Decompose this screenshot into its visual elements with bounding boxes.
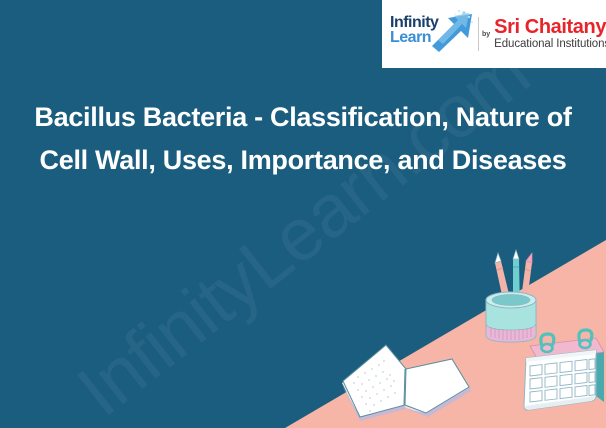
promo-banner: InfinityLearn.com Infinity Learn by Sri … — [0, 0, 606, 428]
desk-calendar-icon — [518, 330, 606, 422]
sri-chaitanya-logo: Sri Chaitanya Educational Institutions — [494, 17, 606, 51]
open-book-icon — [340, 331, 472, 423]
sri-chaitanya-name: Sri Chaitanya — [494, 17, 606, 37]
logo-divider — [478, 17, 479, 51]
page-title: Bacillus Bacteria - Classification, Natu… — [28, 96, 578, 182]
arrow-swoosh-icon — [428, 10, 476, 52]
logo-plate: Infinity Learn by Sri Chaitanya Educatio… — [382, 0, 606, 68]
infinity-learn-logo: Infinity Learn — [390, 8, 476, 60]
logo-connector-label: by — [482, 31, 490, 38]
sri-chaitanya-subtitle: Educational Institutions — [494, 39, 606, 51]
